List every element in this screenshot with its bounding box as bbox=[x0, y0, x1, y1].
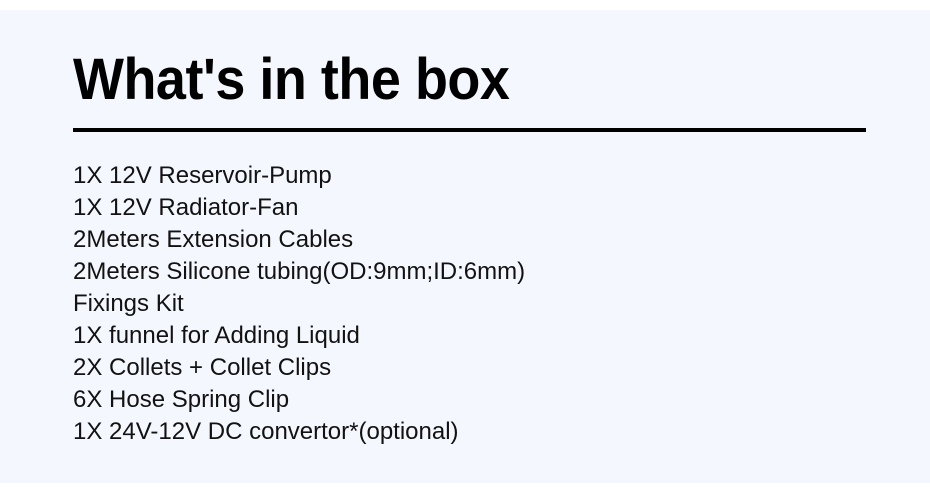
title-block: What's in the box bbox=[73, 50, 868, 110]
page-canvas: What's in the box 1X 12V Reservoir-Pump … bbox=[0, 0, 930, 493]
list-item: Fixings Kit bbox=[73, 288, 873, 320]
list-item: 1X 12V Reservoir-Pump bbox=[73, 160, 873, 192]
page-title: What's in the box bbox=[73, 50, 812, 110]
list-item: 1X 12V Radiator-Fan bbox=[73, 192, 873, 224]
box-contents-list: 1X 12V Reservoir-Pump 1X 12V Radiator-Fa… bbox=[73, 160, 873, 448]
list-item: 2Meters Extension Cables bbox=[73, 224, 873, 256]
page-content: What's in the box 1X 12V Reservoir-Pump … bbox=[0, 0, 930, 493]
list-item: 2X Collets + Collet Clips bbox=[73, 352, 873, 384]
list-item: 2Meters Silicone tubing(OD:9mm;ID:6mm) bbox=[73, 256, 873, 288]
list-item: 6X Hose Spring Clip bbox=[73, 384, 873, 416]
title-divider bbox=[73, 128, 866, 132]
list-item: 1X 24V-12V DC convertor*(optional) bbox=[73, 416, 873, 448]
list-item: 1X funnel for Adding Liquid bbox=[73, 320, 873, 352]
